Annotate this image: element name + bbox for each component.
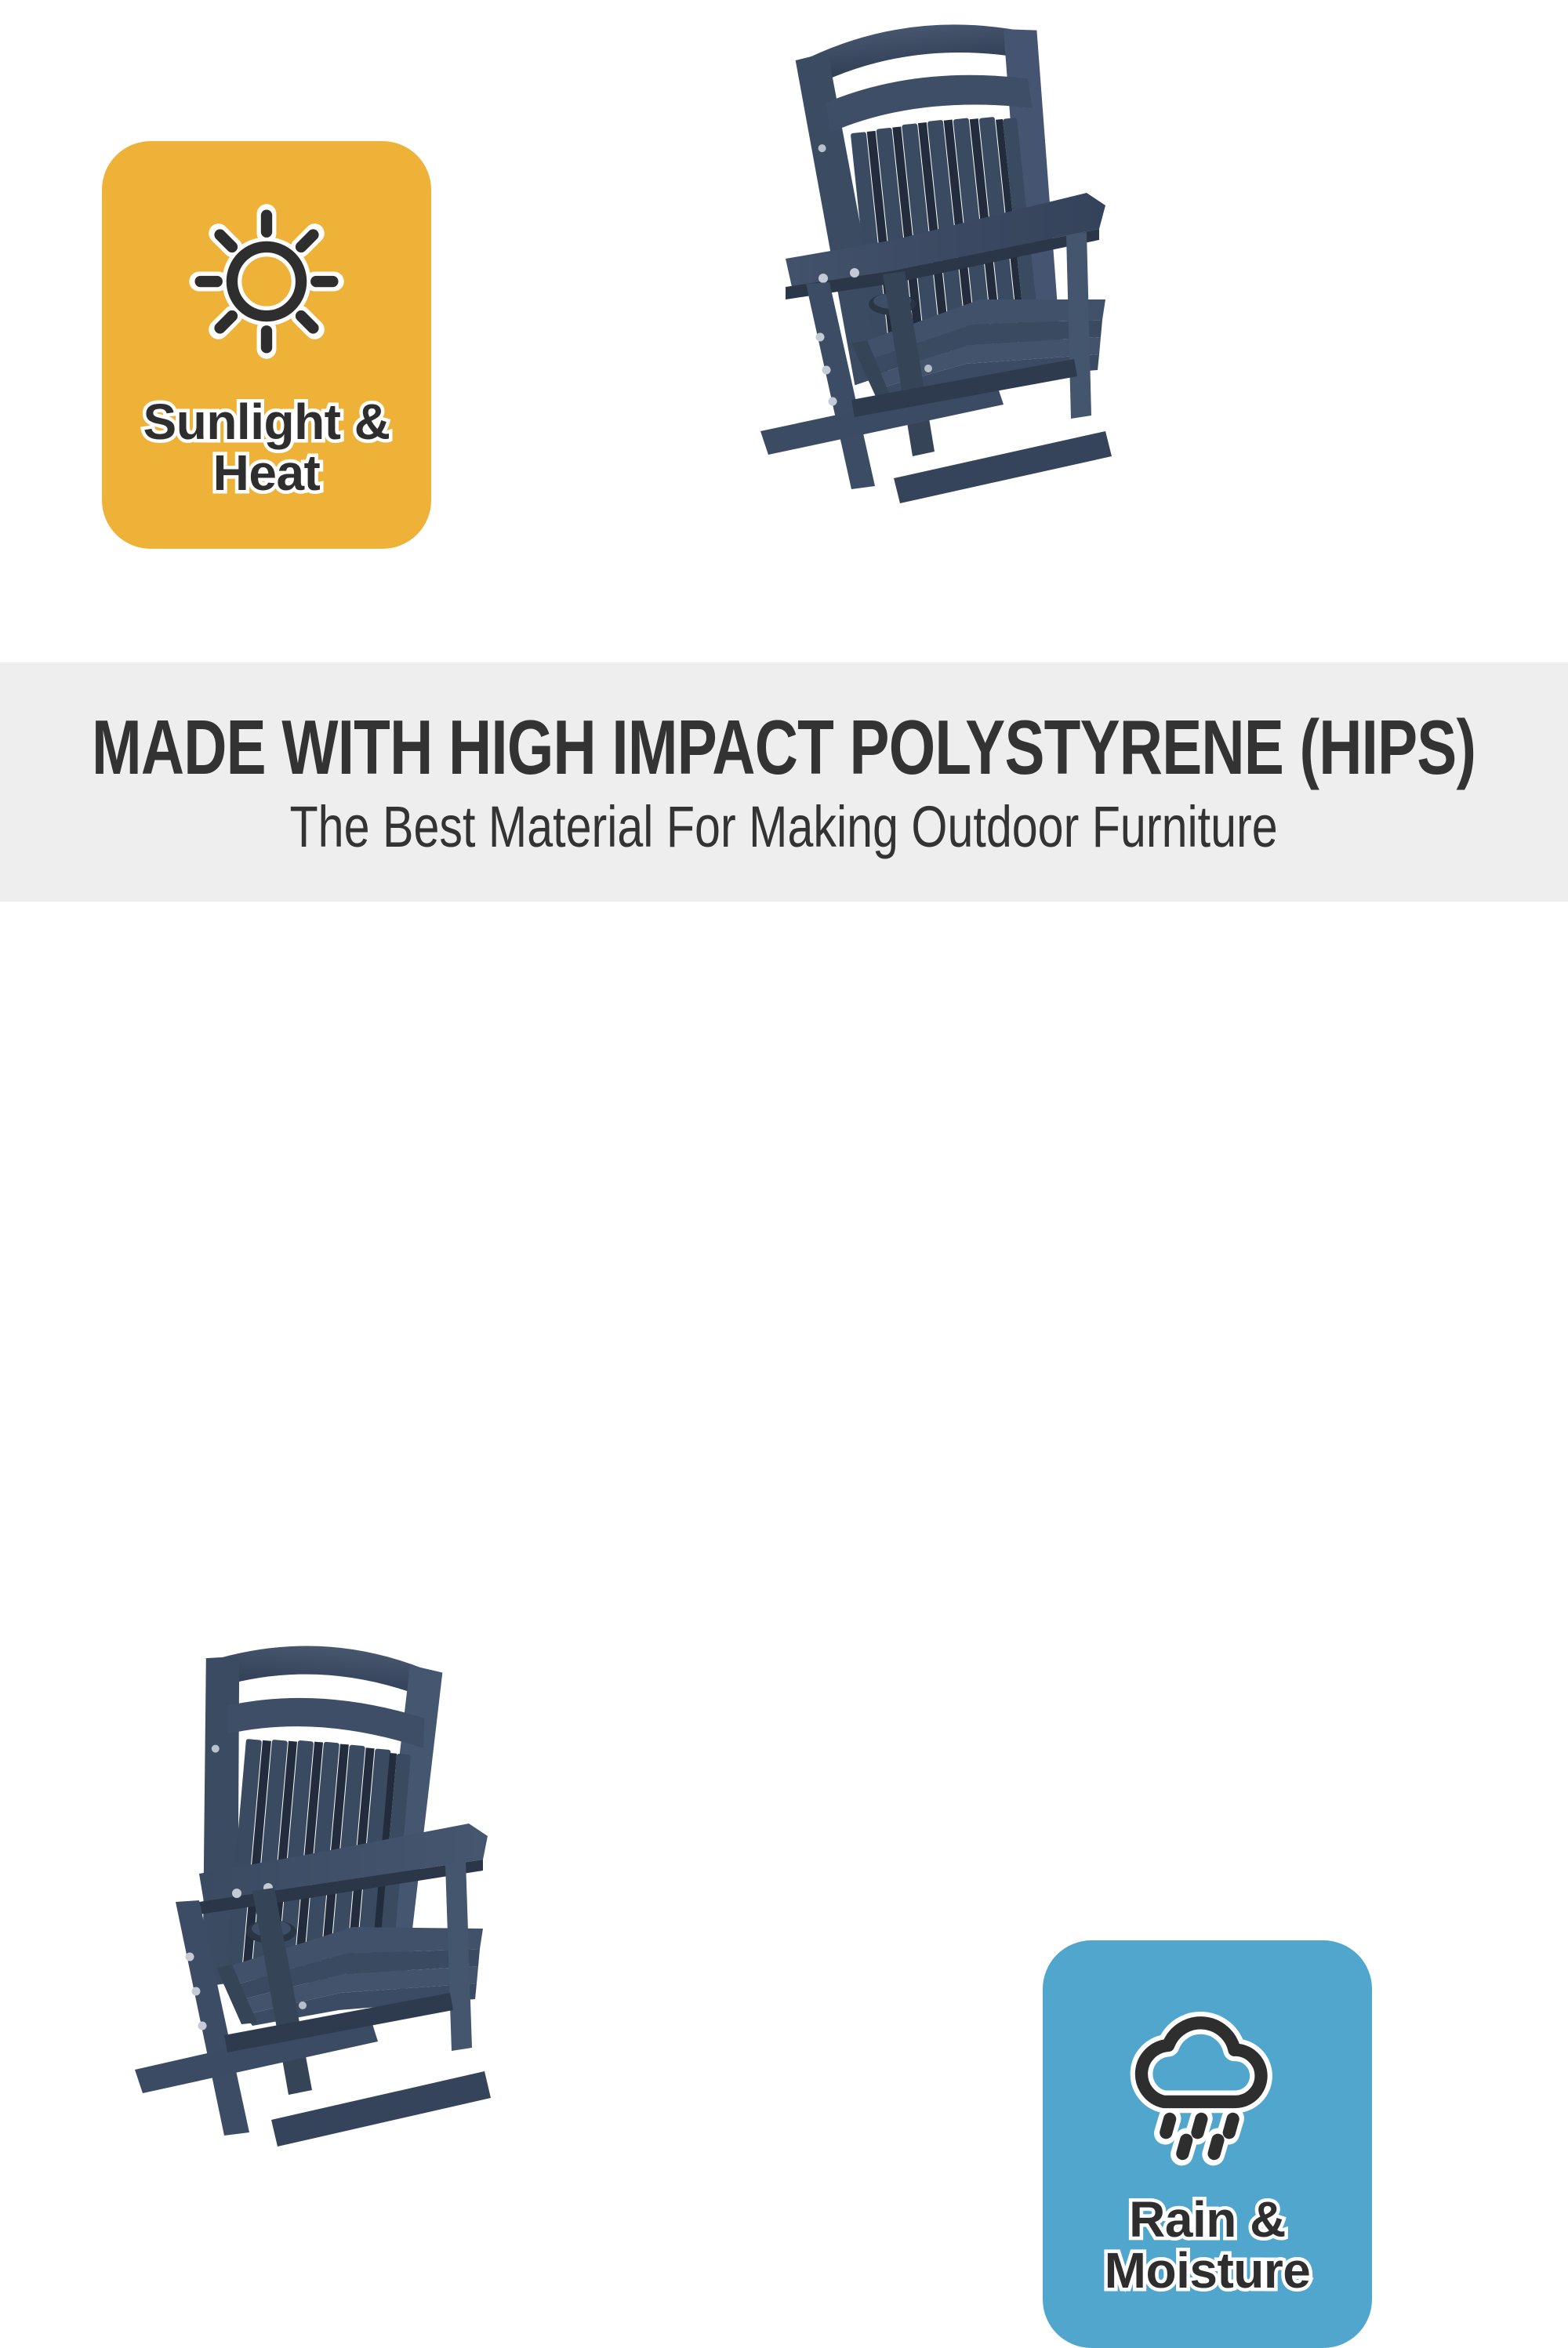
bottom-panel: Rain &Moisture: [0, 902, 1568, 1568]
badge-sunlight-heat: Sunlight &Heat: [102, 141, 431, 549]
banner: MADE WITH HIGH IMPACT POLYSTYRENE (HIPS)…: [0, 662, 1568, 902]
badge-sunlight-label-line1: Sunlight &: [143, 394, 390, 450]
badge-sunlight-label-line2: Heat: [213, 445, 321, 501]
badge-rain-label-line2: Moisture: [1105, 2242, 1311, 2299]
rain-cloud-icon: [1117, 1992, 1298, 2172]
banner-subtitle: The Best Material For Making Outdoor Fur…: [290, 798, 1278, 856]
product-image-chair-rear: [737, 8, 1129, 510]
badge-sunlight-label: Sunlight &Heat: [132, 397, 401, 499]
sun-icon: [176, 191, 357, 372]
badge-rain-label-line1: Rain &: [1129, 2191, 1286, 2248]
product-image-chair-front: [118, 1615, 510, 2164]
top-panel: Sunlight &Heat: [0, 0, 1568, 662]
banner-title: MADE WITH HIGH IMPACT POLYSTYRENE (HIPS): [92, 709, 1475, 786]
badge-rain-label: Rain &Moisture: [1094, 2194, 1322, 2297]
badge-rain-moisture: Rain &Moisture: [1043, 1940, 1372, 2348]
